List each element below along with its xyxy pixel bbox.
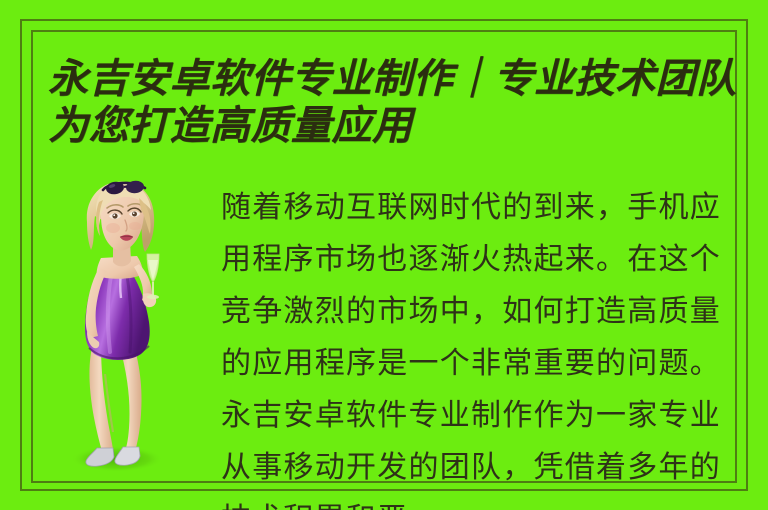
- character-illustration: [57, 176, 187, 471]
- poster-canvas: 永吉安卓软件专业制作｜专业技术团队为您打造高质量应用: [0, 0, 768, 510]
- page-title: 永吉安卓软件专业制作｜专业技术团队为您打造高质量应用: [48, 55, 748, 149]
- article-paragraph: 随着移动互联网时代的到来，手机应用程序市场也逐渐火热起来。在这个竞争激烈的市场中…: [221, 182, 721, 510]
